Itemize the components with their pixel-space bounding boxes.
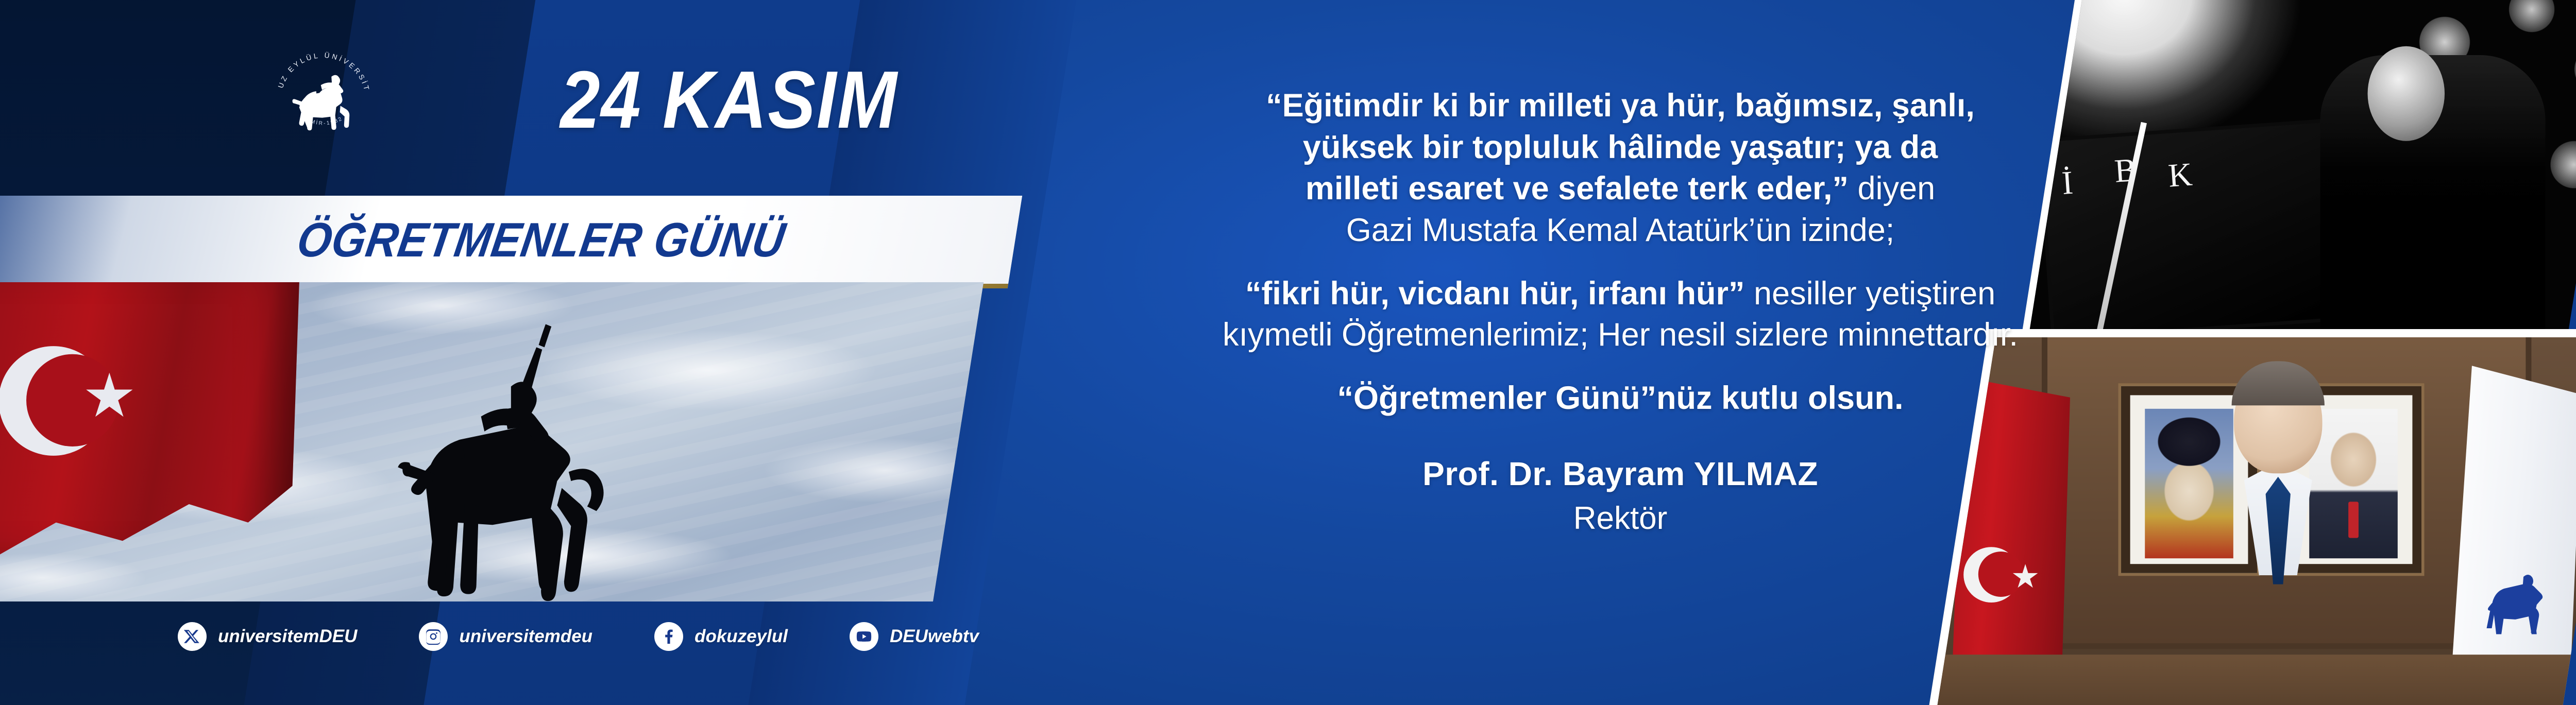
quote-line: Gazi Mustafa Kemal Atatürk’ün izinde; — [1020, 210, 2221, 251]
facebook-icon[interactable] — [654, 622, 683, 651]
social-handle-facebook[interactable]: dokuzeylul — [694, 626, 788, 647]
deu-flag-emblem — [2479, 553, 2553, 638]
occasion-label: ÖĞRETMENLER GÜNÜ — [294, 212, 789, 268]
teachers-day-banner: DOKUZ EYLÜL ÜNİVERSİTESİ İZMİR-1982 24 K… — [0, 0, 2576, 705]
quote-line: kıymetli Öğretmenlerimiz; Her nesil sizl… — [1020, 314, 2221, 356]
university-seal-logo: DOKUZ EYLÜL ÜNİVERSİTESİ İZMİR-1982 — [270, 28, 376, 139]
quote-line: “Öğretmenler Günü”nüz kutlu olsun. — [1020, 377, 2221, 419]
quote-line-bold: yüksek bir topluluk hâlinde yaşatır; ya … — [1303, 129, 1938, 165]
flag-crescent — [0, 346, 108, 456]
social-item-instagram[interactable]: universitemdeu — [419, 622, 592, 651]
office-flag-crescent — [1963, 547, 2019, 603]
quote-line-bold: milleti esaret ve sefalete terk eder,” — [1306, 170, 1849, 207]
quote-block-3: “Öğretmenler Günü”nüz kutlu olsun. — [1020, 377, 2221, 419]
occasion-banner: ÖĞRETMENLER GÜNÜ — [0, 196, 1022, 288]
social-handle-x[interactable]: universitemDEU — [218, 626, 357, 647]
quote-line: “fikri hür, vicdanı hür, irfanı hür” nes… — [1020, 273, 2221, 315]
social-item-youtube[interactable]: DEUwebtv — [850, 622, 979, 651]
ataturk-head — [2368, 46, 2445, 141]
signature-title: Rektör — [1020, 500, 2221, 537]
signature-name: Prof. Dr. Bayram YILMAZ — [1020, 455, 2221, 493]
quote-line-plain: nesiller yetiştiren — [1744, 276, 1995, 312]
youtube-icon[interactable] — [850, 622, 878, 651]
x-twitter-icon[interactable] — [178, 622, 207, 651]
quote-line-plain: kıymetli Öğretmenlerimiz; Her nesil sizl… — [1223, 317, 2018, 353]
quote-line-bold: “Eğitimdir ki bir milleti ya hür, bağıms… — [1266, 88, 1975, 124]
equestrian-statue-silhouette — [366, 282, 620, 601]
quote-line: yüksek bir topluluk hâlinde yaşatır; ya … — [1020, 127, 2221, 168]
social-handle-youtube[interactable]: DEUwebtv — [890, 626, 979, 647]
social-item-facebook[interactable]: dokuzeylul — [654, 622, 788, 651]
svg-text:DOKUZ EYLÜL ÜNİVERSİTESİ: DOKUZ EYLÜL ÜNİVERSİTESİ — [270, 28, 371, 93]
rector-message: “Eğitimdir ki bir milleti ya hür, bağıms… — [1020, 85, 2221, 537]
quote-block-1: “Eğitimdir ki bir milleti ya hür, bağıms… — [1020, 85, 2221, 251]
photo-flag-and-statue-inner — [0, 282, 984, 601]
occasion-banner-text-wrap: ÖĞRETMENLER GÜNÜ — [0, 196, 1022, 284]
photo-flag-and-statue — [0, 282, 984, 601]
instagram-icon[interactable] — [419, 622, 448, 651]
quote-block-2: “fikri hür, vicdanı hür, irfanı hür” nes… — [1020, 273, 2221, 356]
quote-line: milleti esaret ve sefalete terk eder,” d… — [1020, 168, 2221, 210]
quote-line-bold: “Öğretmenler Günü”nüz kutlu olsun. — [1337, 380, 1903, 416]
quote-line-plain: diyen — [1849, 170, 1935, 207]
quote-line-bold: “fikri hür, vicdanı hür, irfanı hür” — [1245, 276, 1745, 312]
quote-line: “Eğitimdir ki bir milleti ya hür, bağıms… — [1020, 85, 2221, 127]
quote-line-plain: Gazi Mustafa Kemal Atatürk’ün izinde; — [1346, 212, 1895, 248]
social-handle-instagram[interactable]: universitemdeu — [459, 626, 592, 647]
social-media-footer: universitemDEU universitemdeu dokuzeylul — [178, 622, 979, 651]
social-item-x[interactable]: universitemDEU — [178, 622, 357, 651]
page-title-date: 24 KASIM — [516, 59, 942, 141]
